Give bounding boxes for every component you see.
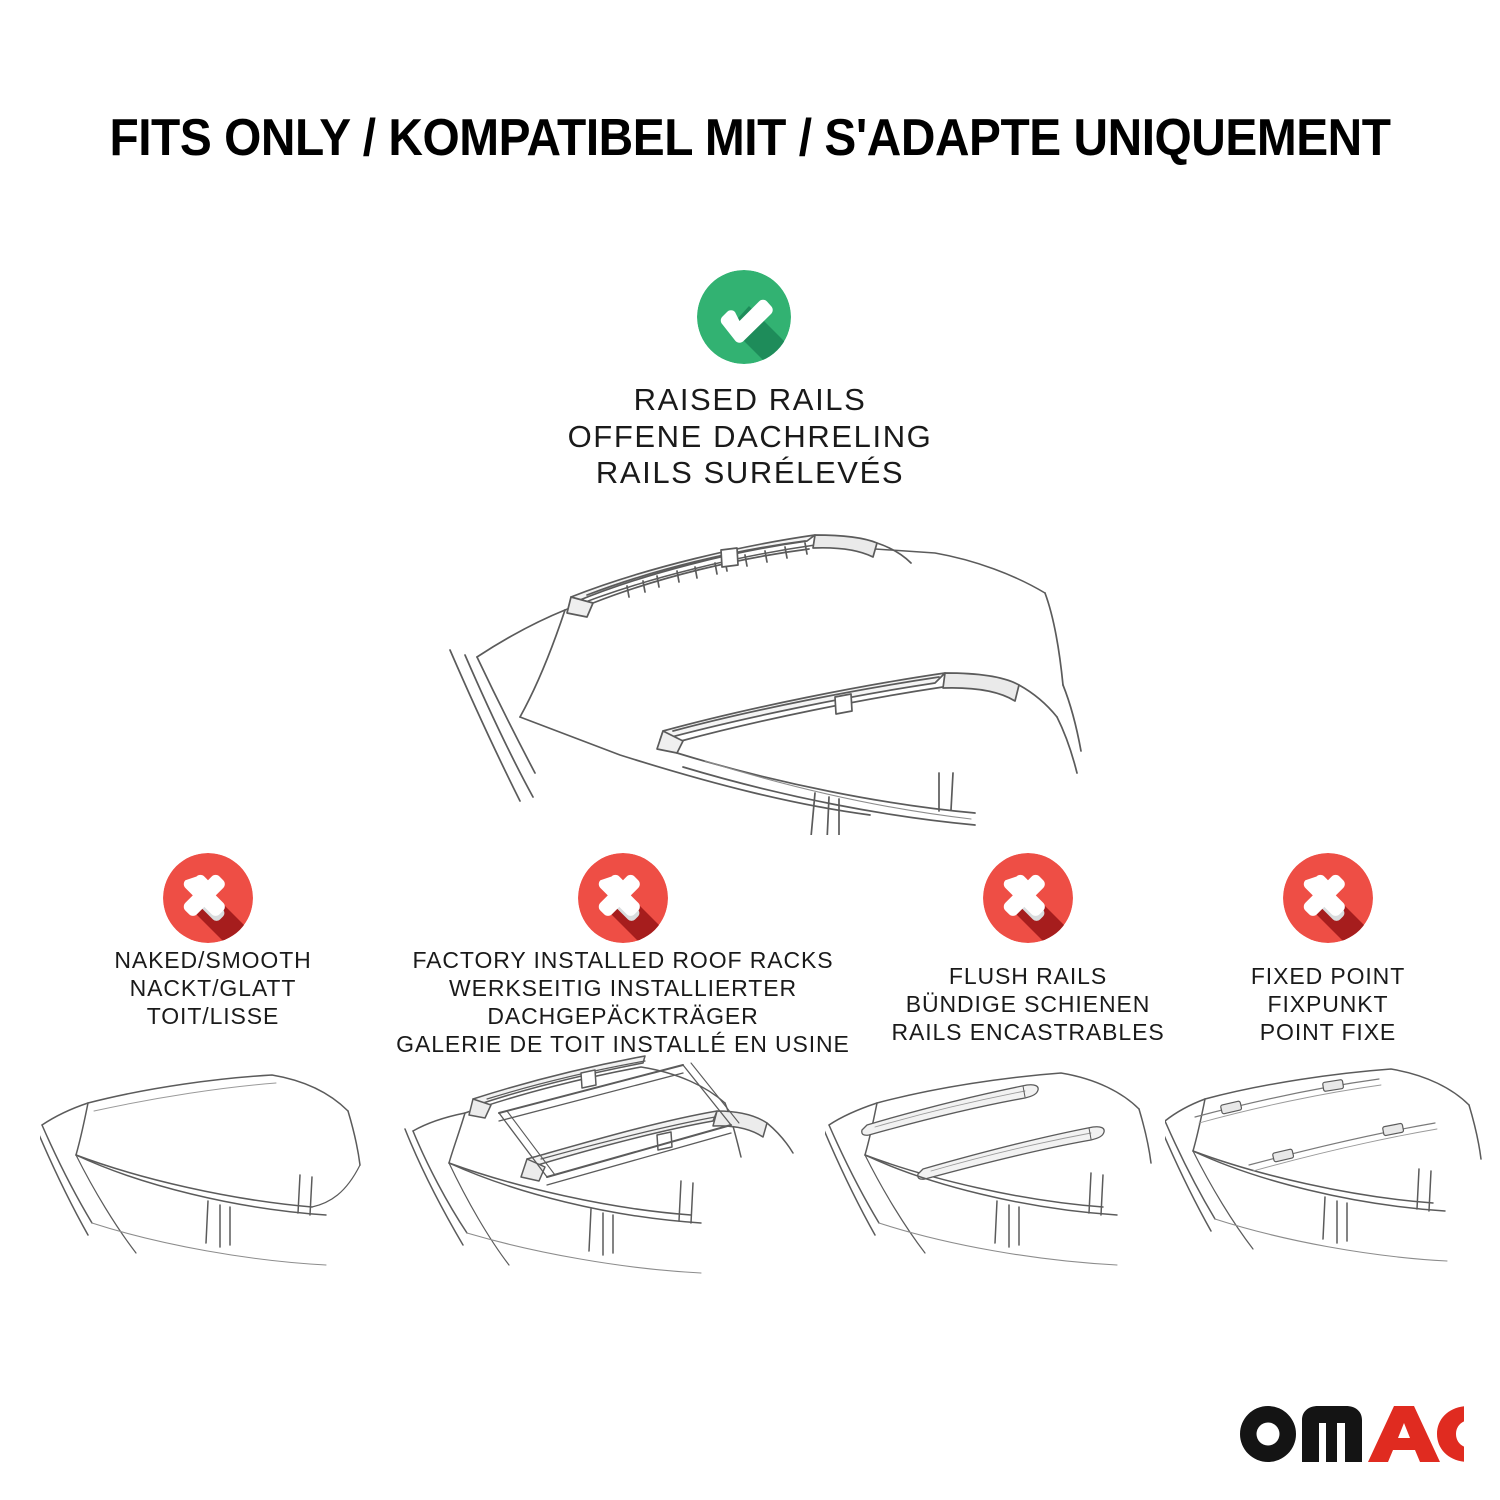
car-roof-fixed-point-drawing [1165, 1055, 1500, 1285]
label-line-en: FIXED POINT [1178, 962, 1478, 990]
omac-logo [1238, 1404, 1464, 1462]
label-line-fr: TOIT/LISSE [58, 1002, 368, 1030]
page-title: FITS ONLY / KOMPATIBEL MIT / S'ADAPTE UN… [60, 108, 1440, 168]
compatible-label-line-en: RAISED RAILS [430, 382, 1070, 419]
incompatible-label-flush-rails: FLUSH RAILS BÜNDIGE SCHIENEN RAILS ENCAS… [858, 962, 1198, 1046]
compatible-label-line-fr: RAILS SURÉLEVÉS [430, 455, 1070, 492]
compatible-label: RAISED RAILS OFFENE DACHRELING RAILS SUR… [430, 382, 1070, 492]
cross-circle-icon [1283, 853, 1373, 943]
cross-circle-icon [163, 853, 253, 943]
label-line-de: BÜNDIGE SCHIENEN [858, 990, 1198, 1018]
label-line-fr: POINT FIXE [1178, 1018, 1478, 1046]
car-roof-raised-rails-drawing [415, 505, 1085, 835]
car-roof-naked-smooth-drawing [40, 1055, 400, 1285]
check-circle-icon [697, 270, 791, 364]
label-line-en: FACTORY INSTALLED ROOF RACKS [373, 946, 873, 974]
cross-circle-icon [983, 853, 1073, 943]
logo-letter-o [1240, 1406, 1296, 1462]
incompatible-label-factory-racks: FACTORY INSTALLED ROOF RACKS WERKSEITIG … [373, 946, 873, 1058]
label-line-de-1: WERKSEITIG INSTALLIERTER [373, 974, 873, 1002]
label-line-fr: RAILS ENCASTRABLES [858, 1018, 1198, 1046]
label-line-de: NACKT/GLATT [58, 974, 368, 1002]
incompatible-label-naked-smooth: NAKED/SMOOTH NACKT/GLATT TOIT/LISSE [58, 946, 368, 1030]
logo-letter-c [1437, 1406, 1464, 1462]
label-line-en: NAKED/SMOOTH [58, 946, 368, 974]
cross-circle-icon [578, 853, 668, 943]
incompatible-label-fixed-point: FIXED POINT FIXPUNKT POINT FIXE [1178, 962, 1478, 1046]
label-line-de-2: DACHGEPÄCKTRÄGER [373, 1002, 873, 1030]
compatible-label-line-de: OFFENE DACHRELING [430, 419, 1070, 456]
label-line-de: FIXPUNKT [1178, 990, 1478, 1018]
logo-letter-a [1368, 1406, 1440, 1462]
car-roof-factory-racks-drawing [395, 1053, 795, 1285]
car-roof-flush-rails-drawing [825, 1055, 1195, 1285]
label-line-en: FLUSH RAILS [858, 962, 1198, 990]
logo-letter-m [1302, 1406, 1362, 1462]
